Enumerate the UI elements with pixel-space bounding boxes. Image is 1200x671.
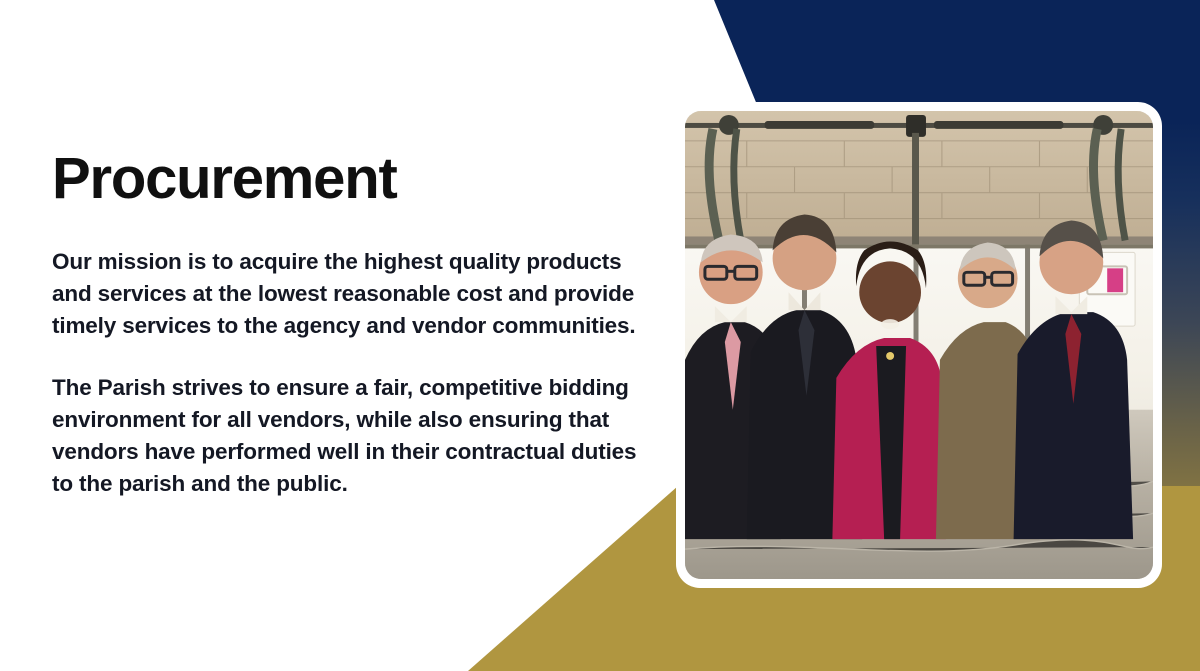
mission-paragraph: Our mission is to acquire the highest qu… [52,246,642,342]
photo-frame [685,111,1153,579]
photo-card [676,102,1162,588]
bidding-paragraph: The Parish strives to ensure a fair, com… [52,372,642,500]
group-photo-image [685,111,1153,579]
slide-canvas: Procurement Our mission is to acquire th… [0,0,1200,671]
page-title: Procurement [52,150,642,208]
text-column: Procurement Our mission is to acquire th… [52,150,642,500]
